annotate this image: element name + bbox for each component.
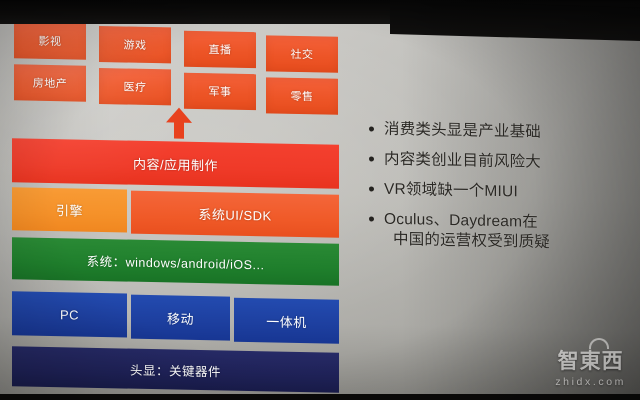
layer-label: 内容/应用制作: [133, 153, 218, 174]
watermark-logo: 智東西: [555, 345, 626, 375]
list-item-text: Oculus、Daydream在: [384, 211, 538, 231]
app-cell-healthcare: 医疗: [99, 68, 171, 105]
bullet-dot-icon: [369, 126, 374, 131]
app-cell-gaming: 游戏: [99, 26, 171, 63]
app-cell-label: 影视: [39, 33, 62, 49]
watermark-logo-text: 智東西: [558, 345, 624, 375]
app-cell-military: 军事: [184, 73, 256, 110]
bullet-dot-icon: [369, 156, 374, 161]
app-cell-social: 社交: [266, 35, 338, 72]
watermark-url: zhidx.com: [555, 376, 626, 388]
app-cell-film-tv: 影视: [14, 22, 86, 59]
app-cell-label: 直播: [209, 41, 232, 57]
list-item-text: VR领域缺一个MIUI: [384, 181, 518, 201]
key-points-list: 消费类头显是产业基础 内容类创业目前风险大 VR领域缺一个MIUI Oculus…: [366, 119, 634, 264]
list-item-text-continuation: 中国的运营权受到质疑: [384, 230, 634, 255]
app-cell-retail: 零售: [266, 77, 338, 114]
slide-photo-stage: 影视 游戏 直播 社交 房地产 医疗 军事 零售: [0, 0, 640, 400]
layer-device-pc: PC: [12, 291, 127, 337]
layer-label: 系统UI/SDK: [198, 204, 271, 224]
layer-label: 头显：关键器件: [130, 359, 221, 380]
layer-label: 移动: [167, 308, 194, 328]
layer-operating-system: 系统：windows/android/iOS...: [12, 237, 339, 286]
app-cell-label: 零售: [291, 88, 314, 104]
slide-content: 影视 游戏 直播 社交 房地产 医疗 军事 零售: [0, 6, 640, 400]
list-item-text: 消费类头显是产业基础: [384, 121, 541, 141]
layer-system-ui-sdk: 系统UI/SDK: [131, 191, 339, 238]
app-cell-label: 医疗: [124, 78, 147, 94]
layer-label: 系统：windows/android/iOS...: [87, 250, 265, 273]
list-item: 消费类头显是产业基础: [366, 119, 634, 144]
up-arrow-icon: [166, 107, 192, 138]
app-cell-label: 房地产: [33, 75, 68, 92]
list-item: VR领域缺一个MIUI: [366, 179, 634, 204]
app-cell-real-estate: 房地产: [14, 64, 86, 101]
bullet-dot-icon: [369, 186, 374, 191]
wifi-signal-icon: [589, 338, 609, 349]
app-cell-label: 军事: [209, 83, 232, 99]
list-item: 内容类创业目前风险大: [366, 149, 634, 174]
layer-device-mobile: 移动: [131, 295, 230, 341]
watermark-logo-label: 智東西: [558, 350, 624, 373]
layer-engine: 引擎: [12, 187, 127, 232]
layer-headset-components: 头显：关键器件: [12, 346, 339, 393]
layer-content-production: 内容/应用制作: [12, 138, 339, 189]
layer-device-all-in-one: 一体机: [234, 298, 339, 344]
app-cell-label: 游戏: [124, 36, 147, 52]
watermark: 智東西 zhidx.com: [555, 345, 626, 388]
up-arrow-stem: [174, 121, 184, 138]
app-cell-live-streaming: 直播: [184, 31, 256, 68]
layer-label: 一体机: [266, 311, 307, 331]
app-cell-label: 社交: [291, 46, 314, 62]
bullet-dot-icon: [369, 216, 374, 221]
room-bottom-dark-band: [0, 394, 640, 400]
list-item: Oculus、Daydream在 中国的运营权受到质疑: [366, 209, 634, 254]
layer-label: PC: [60, 307, 79, 322]
room-top-right-dark-band: [390, 0, 640, 41]
up-arrow-head: [166, 107, 192, 123]
layer-label: 引擎: [56, 200, 83, 220]
list-item-text: 内容类创业目前风险大: [384, 151, 541, 171]
